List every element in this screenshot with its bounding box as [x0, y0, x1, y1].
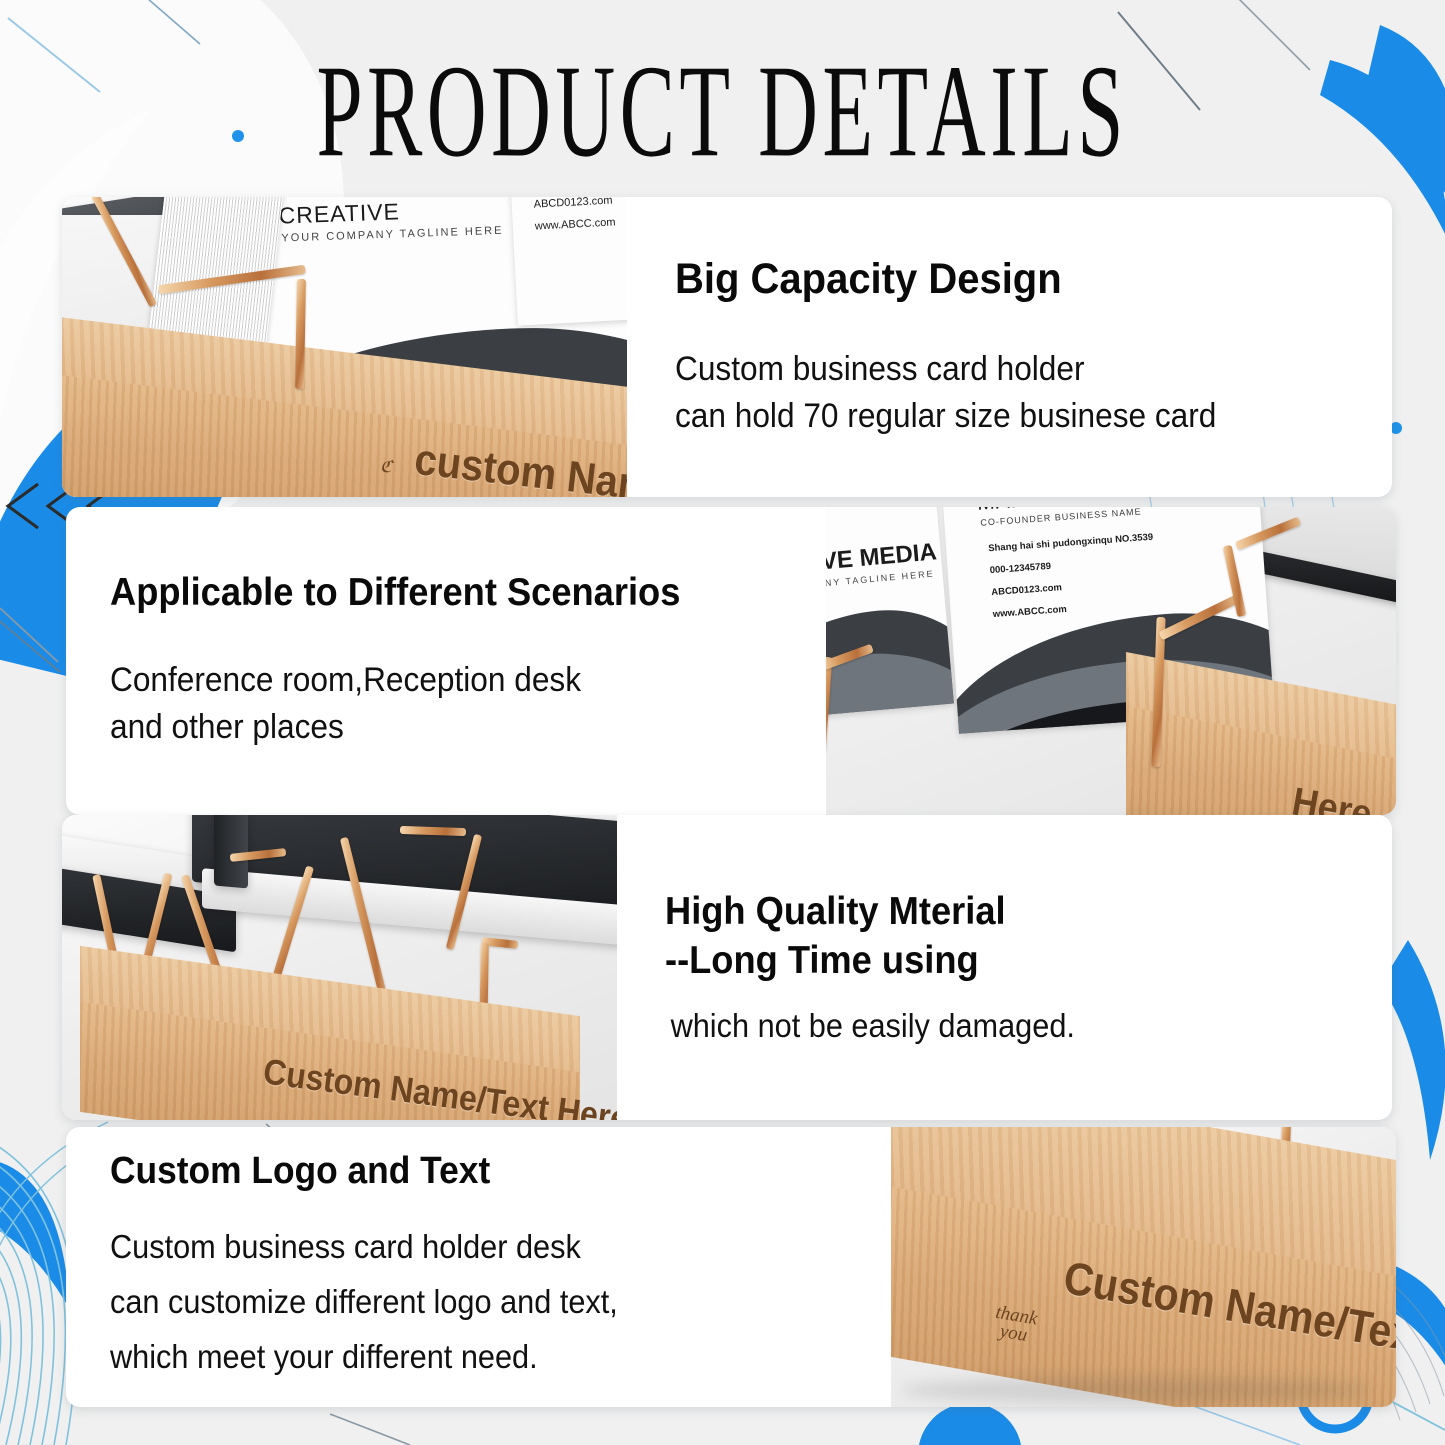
card1-heading: Big Capacity Design [675, 255, 1342, 304]
card4-heading: Custom Logo and Text [110, 1150, 836, 1193]
card-email-text: ABCD0123.com [533, 197, 612, 211]
product-photo-custom-logo: Custom Name/Text Here thank you [891, 1127, 1396, 1407]
card3-heading-line-2: --Long Time using [665, 936, 1341, 985]
card1-body-line-2: can hold 70 regular size businese card [675, 393, 1342, 440]
card-brand-text: CREATIVE [278, 198, 400, 229]
card4-body: Custom business card holder desk can cus… [110, 1219, 836, 1384]
feature-text-quality: High Quality Mterial --Long Time using w… [617, 815, 1392, 1120]
card4-body-line-1: Custom business card holder desk [110, 1219, 836, 1274]
photo-scene: MARK HENRY CO-FOUNDER BUSINESS NAME Shan… [826, 507, 1396, 815]
card-address-text: Shang hai shi pudongxinqu NO.3539 [988, 532, 1154, 554]
thank-you-line-2: you [998, 1321, 1029, 1346]
card4-body-line-2: can customize different logo and text, [110, 1274, 836, 1329]
card2-body: Conference room,Reception desk and other… [110, 657, 776, 751]
card1-body: Custom business card holder can hold 70 … [675, 346, 1342, 440]
card3-body-line-1: which not be easily damaged. [671, 1003, 1342, 1049]
product-photo-scenarios: MARK HENRY CO-FOUNDER BUSINESS NAME Shan… [826, 507, 1396, 815]
feature-card-quality[interactable]: Custom Name/Text Here High Quality Mteri… [62, 815, 1392, 1120]
feature-text-custom-logo: Custom Logo and Text Custom business car… [66, 1127, 891, 1407]
feature-text-big-capacity: Big Capacity Design Custom business card… [627, 197, 1392, 497]
card1-body-line-1: Custom business card holder [675, 346, 1342, 393]
card2-body-line-1: Conference room,Reception desk [110, 657, 776, 704]
photo-scene: CREATIVE YOUR COMPANY TAGLINE HERE ABCD0… [62, 197, 627, 497]
card4-body-line-3: which meet your different need. [110, 1329, 836, 1384]
card2-body-line-2: and other places [110, 704, 776, 751]
feature-card-custom-logo[interactable]: Custom Logo and Text Custom business car… [66, 1127, 1396, 1407]
product-photo-quality: Custom Name/Text Here [62, 815, 617, 1120]
card-website-text: www.ABCC.com [535, 216, 616, 232]
business-card-left: VE MEDIA NY TAGLINE HERE [826, 507, 954, 722]
feature-card-scenarios[interactable]: Applicable to Different Scenarios Confer… [66, 507, 1396, 815]
feature-card-big-capacity[interactable]: CREATIVE YOUR COMPANY TAGLINE HERE ABCD0… [62, 197, 1392, 497]
page-title: PRODUCT DETAILS [317, 42, 1128, 181]
photo-scene: Custom Name/Text Here [62, 815, 617, 1120]
card-email-text: ABCD0123.com [991, 582, 1062, 598]
card3-body: which not be easily damaged. [665, 1003, 1341, 1049]
base-shadow [901, 1377, 1371, 1403]
thank-you-badge: ℭ [379, 458, 393, 475]
card2-heading: Applicable to Different Scenarios [110, 571, 776, 615]
business-card-right: ABCD0123.com www.ABCC.com [510, 197, 627, 326]
photo-scene: Custom Name/Text Here thank you [891, 1127, 1396, 1407]
card-phone-text: 000-12345789 [989, 561, 1051, 576]
card3-heading: High Quality Mterial --Long Time using [665, 887, 1341, 985]
page-header: PRODUCT DETAILS [0, 42, 1445, 162]
feature-text-scenarios: Applicable to Different Scenarios Confer… [66, 507, 826, 815]
gold-wire-right-post [295, 279, 306, 389]
product-photo-big-capacity: CREATIVE YOUR COMPANY TAGLINE HERE ABCD0… [62, 197, 627, 497]
card-website-text: www.ABCC.com [992, 604, 1067, 620]
card3-heading-line-1: High Quality Mterial [665, 887, 1341, 936]
